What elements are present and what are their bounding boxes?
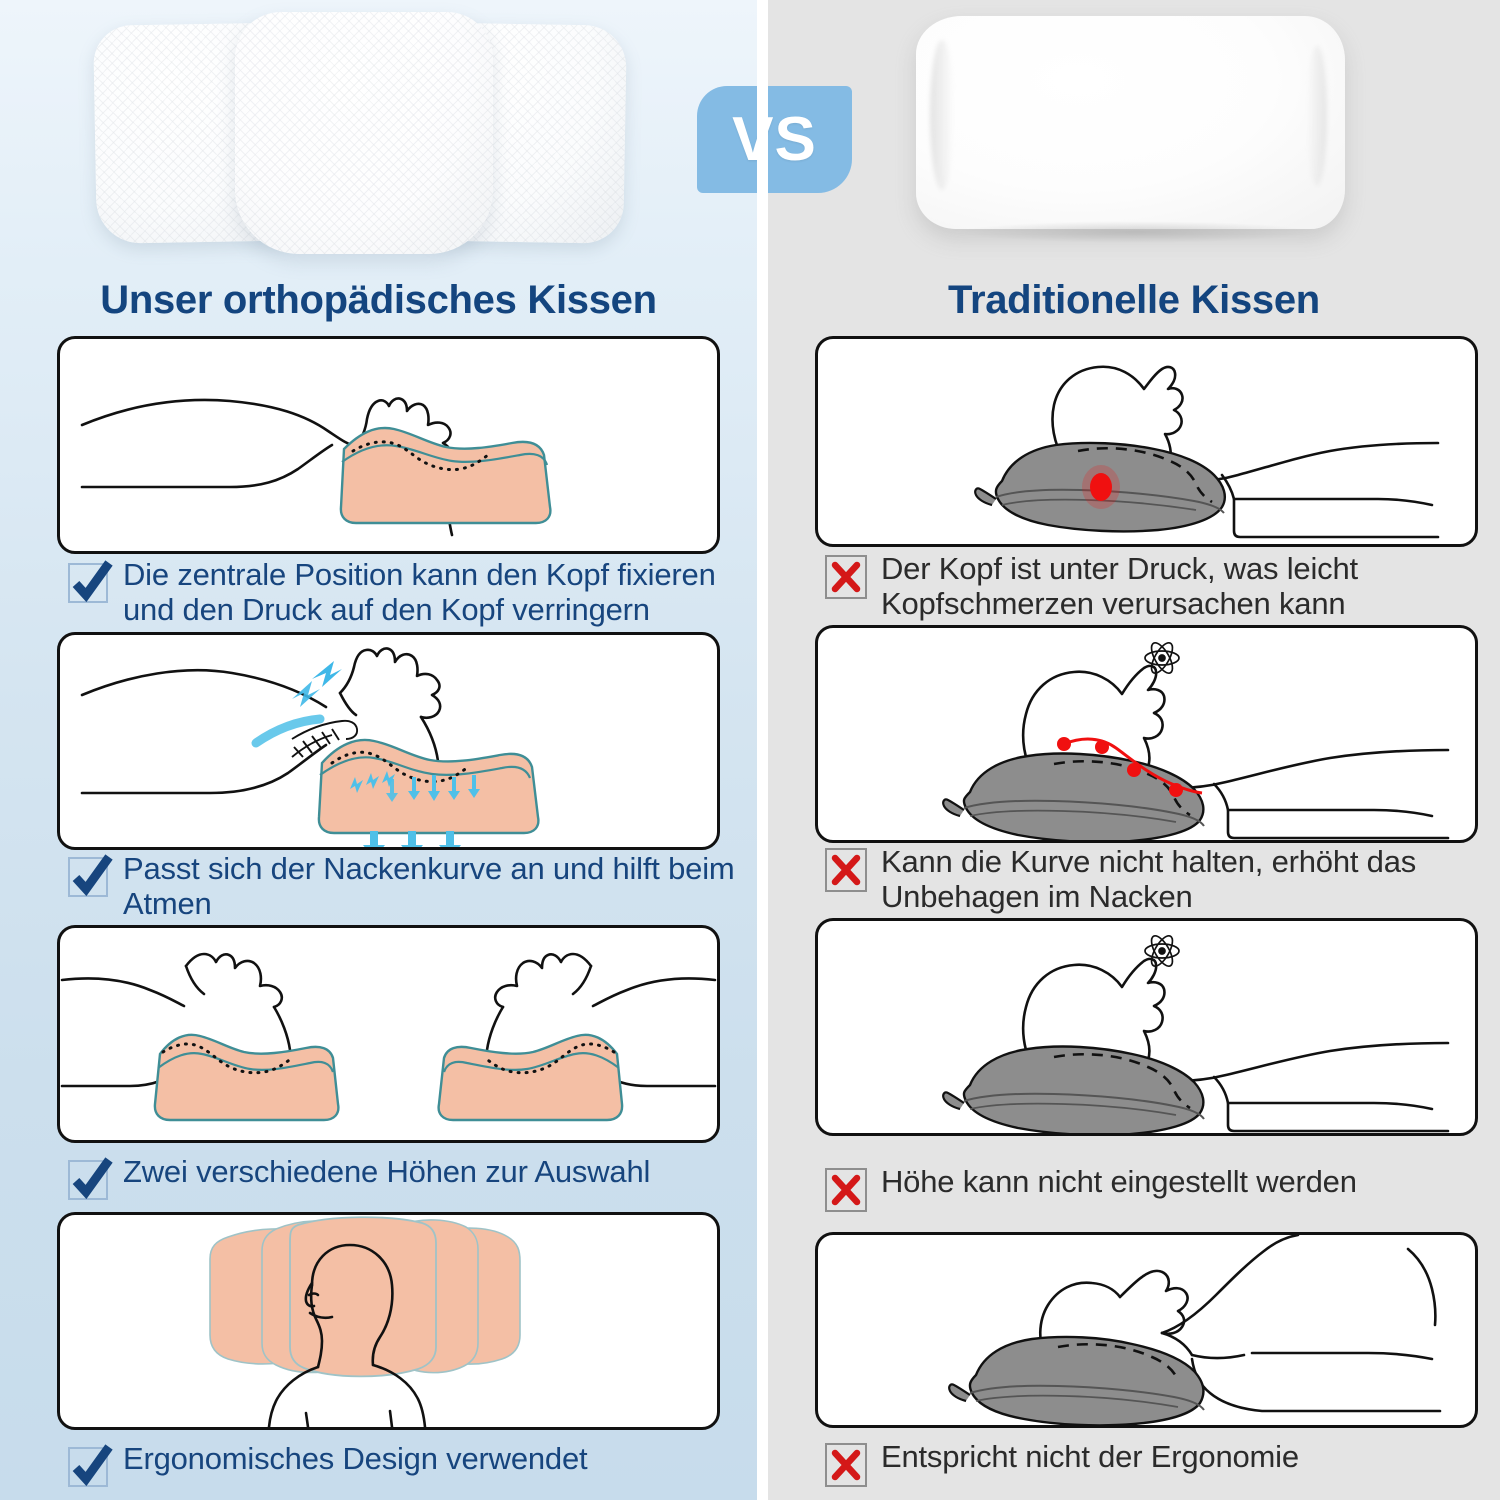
right-bullet-1: Kann die Kurve nicht halten, erhöht das … — [826, 845, 1486, 914]
column-divider — [757, 0, 768, 1500]
left-bullet-1: Passt sich der Nackenkurve an und hilft … — [68, 852, 748, 921]
cross-icon — [826, 1169, 868, 1211]
check-icon — [68, 1159, 110, 1201]
left-hero — [0, 0, 757, 270]
cross-icon — [826, 1444, 868, 1486]
right-hero — [768, 0, 1500, 270]
right-bullet-label-3: Entspricht nicht der Ergonomie — [881, 1440, 1299, 1475]
left-bullet-label-3: Ergonomisches Design verwendet — [123, 1442, 587, 1477]
diagram-two-pillow-heights — [57, 925, 720, 1143]
pillow-fold-right — [1307, 46, 1327, 186]
left-bullet-label-2: Zwei verschiedene Höhen zur Auswahl — [123, 1155, 650, 1190]
pillow-center-panel — [235, 12, 493, 254]
cross-icon — [826, 849, 868, 891]
pillow-body — [916, 16, 1345, 229]
comparison-infographic: Unser orthopädisches Kissen — [0, 0, 1500, 1500]
right-bullet-2: Höhe kann nicht eingestellt werden — [826, 1165, 1486, 1211]
diagram-fixed-height-pillow — [815, 918, 1478, 1136]
pain-icon — [1145, 933, 1179, 969]
pillow-fold-left — [930, 40, 954, 190]
vs-badge: VS — [697, 86, 852, 193]
diagram-head-under-pressure-red-dot — [815, 336, 1478, 547]
left-bullet-2: Zwei verschiedene Höhen zur Auswahl — [68, 1155, 748, 1201]
left-bullet-label-0: Die zentrale Position kann den Kopf fixi… — [123, 558, 748, 627]
pillow-shadow — [958, 221, 1313, 243]
left-bullet-3: Ergonomisches Design verwendet — [68, 1442, 748, 1488]
diagram-neck-curve-collapse-red-points — [815, 625, 1478, 843]
pain-icon — [1145, 640, 1179, 676]
orthopedic-pillow-photo — [95, 8, 625, 258]
diagram-back-sleeper-supported-head — [57, 336, 720, 554]
check-icon — [68, 856, 110, 898]
check-icon — [68, 562, 110, 604]
vs-divider-notch — [757, 86, 768, 193]
cross-icon — [826, 556, 868, 598]
right-bullet-label-0: Der Kopf ist unter Druck, was leicht Kop… — [881, 552, 1486, 621]
traditional-pillow-photo — [908, 6, 1353, 251]
right-bullet-3: Entspricht nicht der Ergonomie — [826, 1440, 1486, 1486]
right-bullet-label-1: Kann die Kurve nicht halten, erhöht das … — [881, 845, 1486, 914]
diagram-top-view-ergonomic-cradle — [57, 1212, 720, 1430]
right-bullet-0: Der Kopf ist unter Druck, was leicht Kop… — [826, 552, 1486, 621]
check-icon — [68, 1446, 110, 1488]
vs-badge-label: VS — [732, 109, 817, 171]
right-column: Traditionelle Kissen — [768, 0, 1500, 1500]
left-bullet-0: Die zentrale Position kann den Kopf fixi… — [68, 558, 748, 627]
left-column-heading: Unser orthopädisches Kissen — [0, 280, 757, 320]
left-bullet-label-1: Passt sich der Nackenkurve an und hilft … — [123, 852, 748, 921]
diagram-side-sleeper-bad-alignment — [815, 1232, 1478, 1428]
diagram-neck-curve-airflow — [57, 632, 720, 850]
left-column: Unser orthopädisches Kissen — [0, 0, 757, 1500]
right-column-heading: Traditionelle Kissen — [768, 280, 1500, 320]
right-bullet-label-2: Höhe kann nicht eingestellt werden — [881, 1165, 1357, 1200]
